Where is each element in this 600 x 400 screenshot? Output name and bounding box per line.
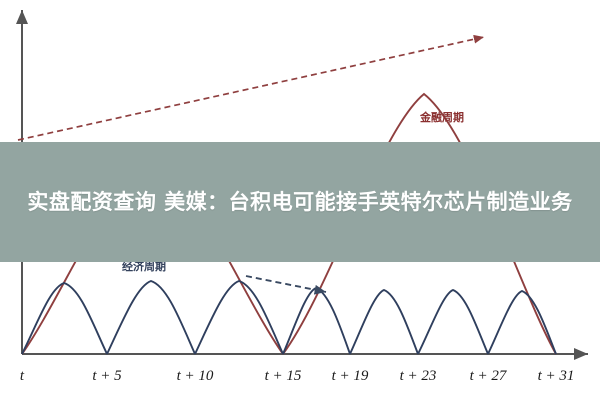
xtick-label-t-plus-15: t + 15 [265,368,302,384]
xtick-label-t-plus-27: t + 27 [470,368,508,384]
headline-text: 实盘配资查询 美媒：台积电可能接手英特尔芯片制造业务 [12,188,588,216]
xtick-label-t: t [20,368,25,384]
xtick-label-t-plus-31: t + 31 [538,368,575,384]
financial-cycle-label: 金融周期 [419,110,464,124]
financial-cycle-trend-arrow [18,37,484,140]
xtick-label-t-plus-5: t + 5 [92,368,122,384]
xtick-label-t-plus-10: t + 10 [177,368,214,384]
headline-overlay-banner: 实盘配资查询 美媒：台积电可能接手英特尔芯片制造业务 [0,142,600,262]
xtick-label-t-plus-19: t + 19 [332,368,369,384]
business-cycle-curve [22,281,556,354]
xtick-label-t-plus-23: t + 23 [400,368,437,384]
chart-canvas: 金融周期 经济周期 t t + 5 t + 10 t + 15 t + 19 t… [0,0,600,400]
